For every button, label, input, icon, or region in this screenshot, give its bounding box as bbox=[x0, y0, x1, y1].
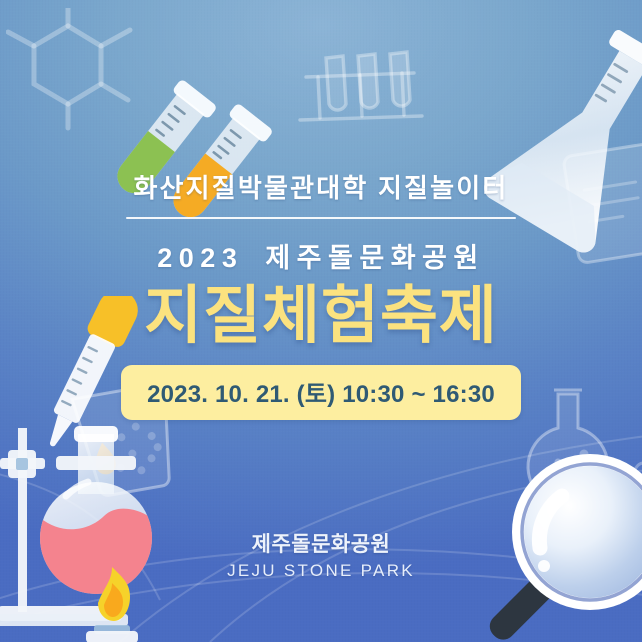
divider-rule bbox=[126, 217, 516, 219]
poster-text-block: 화산지질박물관대학 지질놀이터 2023제주돌문화공원 지질체험축제 2023.… bbox=[0, 0, 642, 420]
organization-logo: 제주돌문화공원 JEJU STONE PARK bbox=[0, 528, 642, 581]
logo-english-name: JEJU STONE PARK bbox=[0, 561, 642, 581]
poster-subtitle: 2023제주돌문화공원 bbox=[0, 236, 642, 275]
subtitle-year: 2023 bbox=[157, 243, 243, 273]
subtitle-place: 제주돌문화공원 bbox=[265, 243, 484, 273]
poster-kicker: 화산지질박물관대학 지질놀이터 bbox=[0, 174, 642, 203]
logo-korean-name: 제주돌문화공원 bbox=[0, 528, 642, 558]
poster-main-title: 지질체험축제 bbox=[0, 281, 642, 352]
event-date-badge: 2023. 10. 21. (토) 10:30 ~ 16:30 bbox=[121, 365, 521, 420]
event-poster: 화산지질박물관대학 지질놀이터 2023제주돌문화공원 지질체험축제 2023.… bbox=[0, 0, 642, 642]
